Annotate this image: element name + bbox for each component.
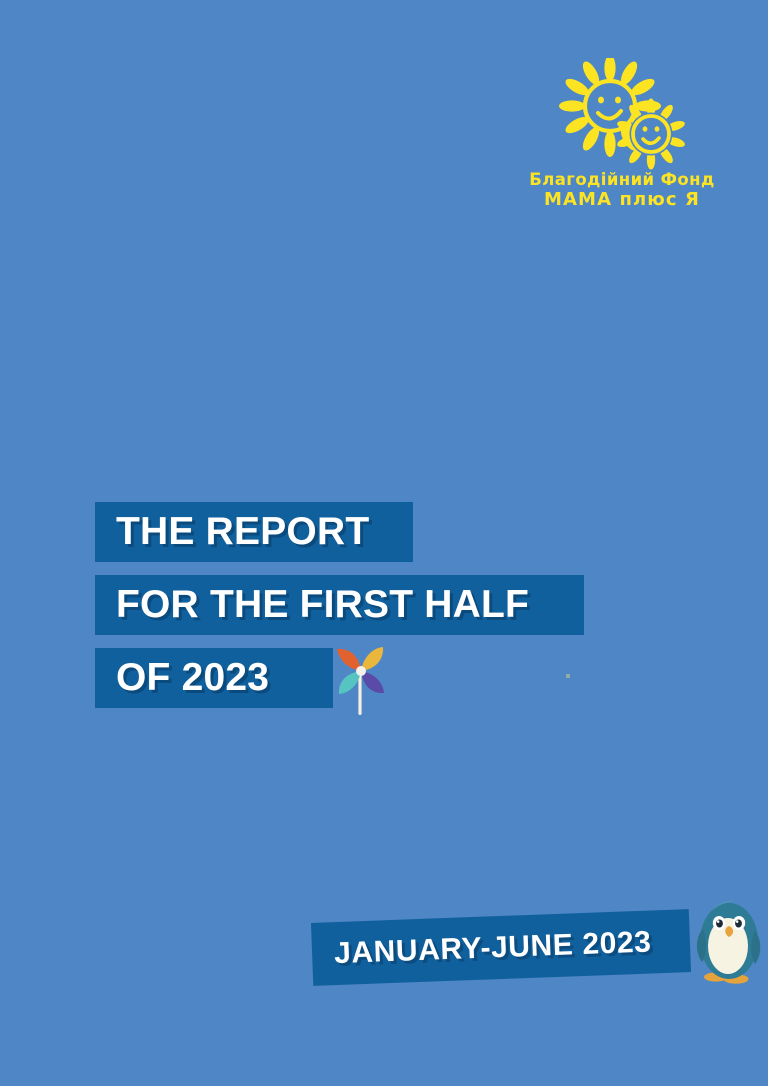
logo-line-2: МАМА плюс Я — [522, 189, 722, 210]
background-speck — [566, 674, 570, 678]
report-cover-page: Благодійний Фонд МАМА плюс Я THE REPORT … — [0, 0, 768, 1086]
organization-logo: Благодійний Фонд МАМА плюс Я — [522, 58, 722, 223]
title-banner-line-2: FOR THE FIRST HALF — [95, 575, 584, 635]
date-range-banner: JANUARY-JUNE 2023 — [311, 909, 691, 986]
pinwheel-icon — [330, 643, 392, 715]
title-line-3: OF 2023 — [116, 656, 269, 700]
two-smiling-suns-icon — [550, 58, 700, 170]
title-banner-line-1: THE REPORT — [95, 502, 413, 562]
logo-wordmark: Благодійний Фонд МАМА плюс Я — [522, 170, 722, 211]
title-line-2: FOR THE FIRST HALF — [116, 583, 529, 627]
penguin-icon — [694, 893, 764, 988]
logo-line-1: Благодійний Фонд — [522, 170, 722, 189]
title-banner-line-3: OF 2023 — [95, 648, 333, 708]
date-range-label: JANUARY-JUNE 2023 — [333, 925, 652, 971]
title-line-1: THE REPORT — [116, 510, 369, 554]
